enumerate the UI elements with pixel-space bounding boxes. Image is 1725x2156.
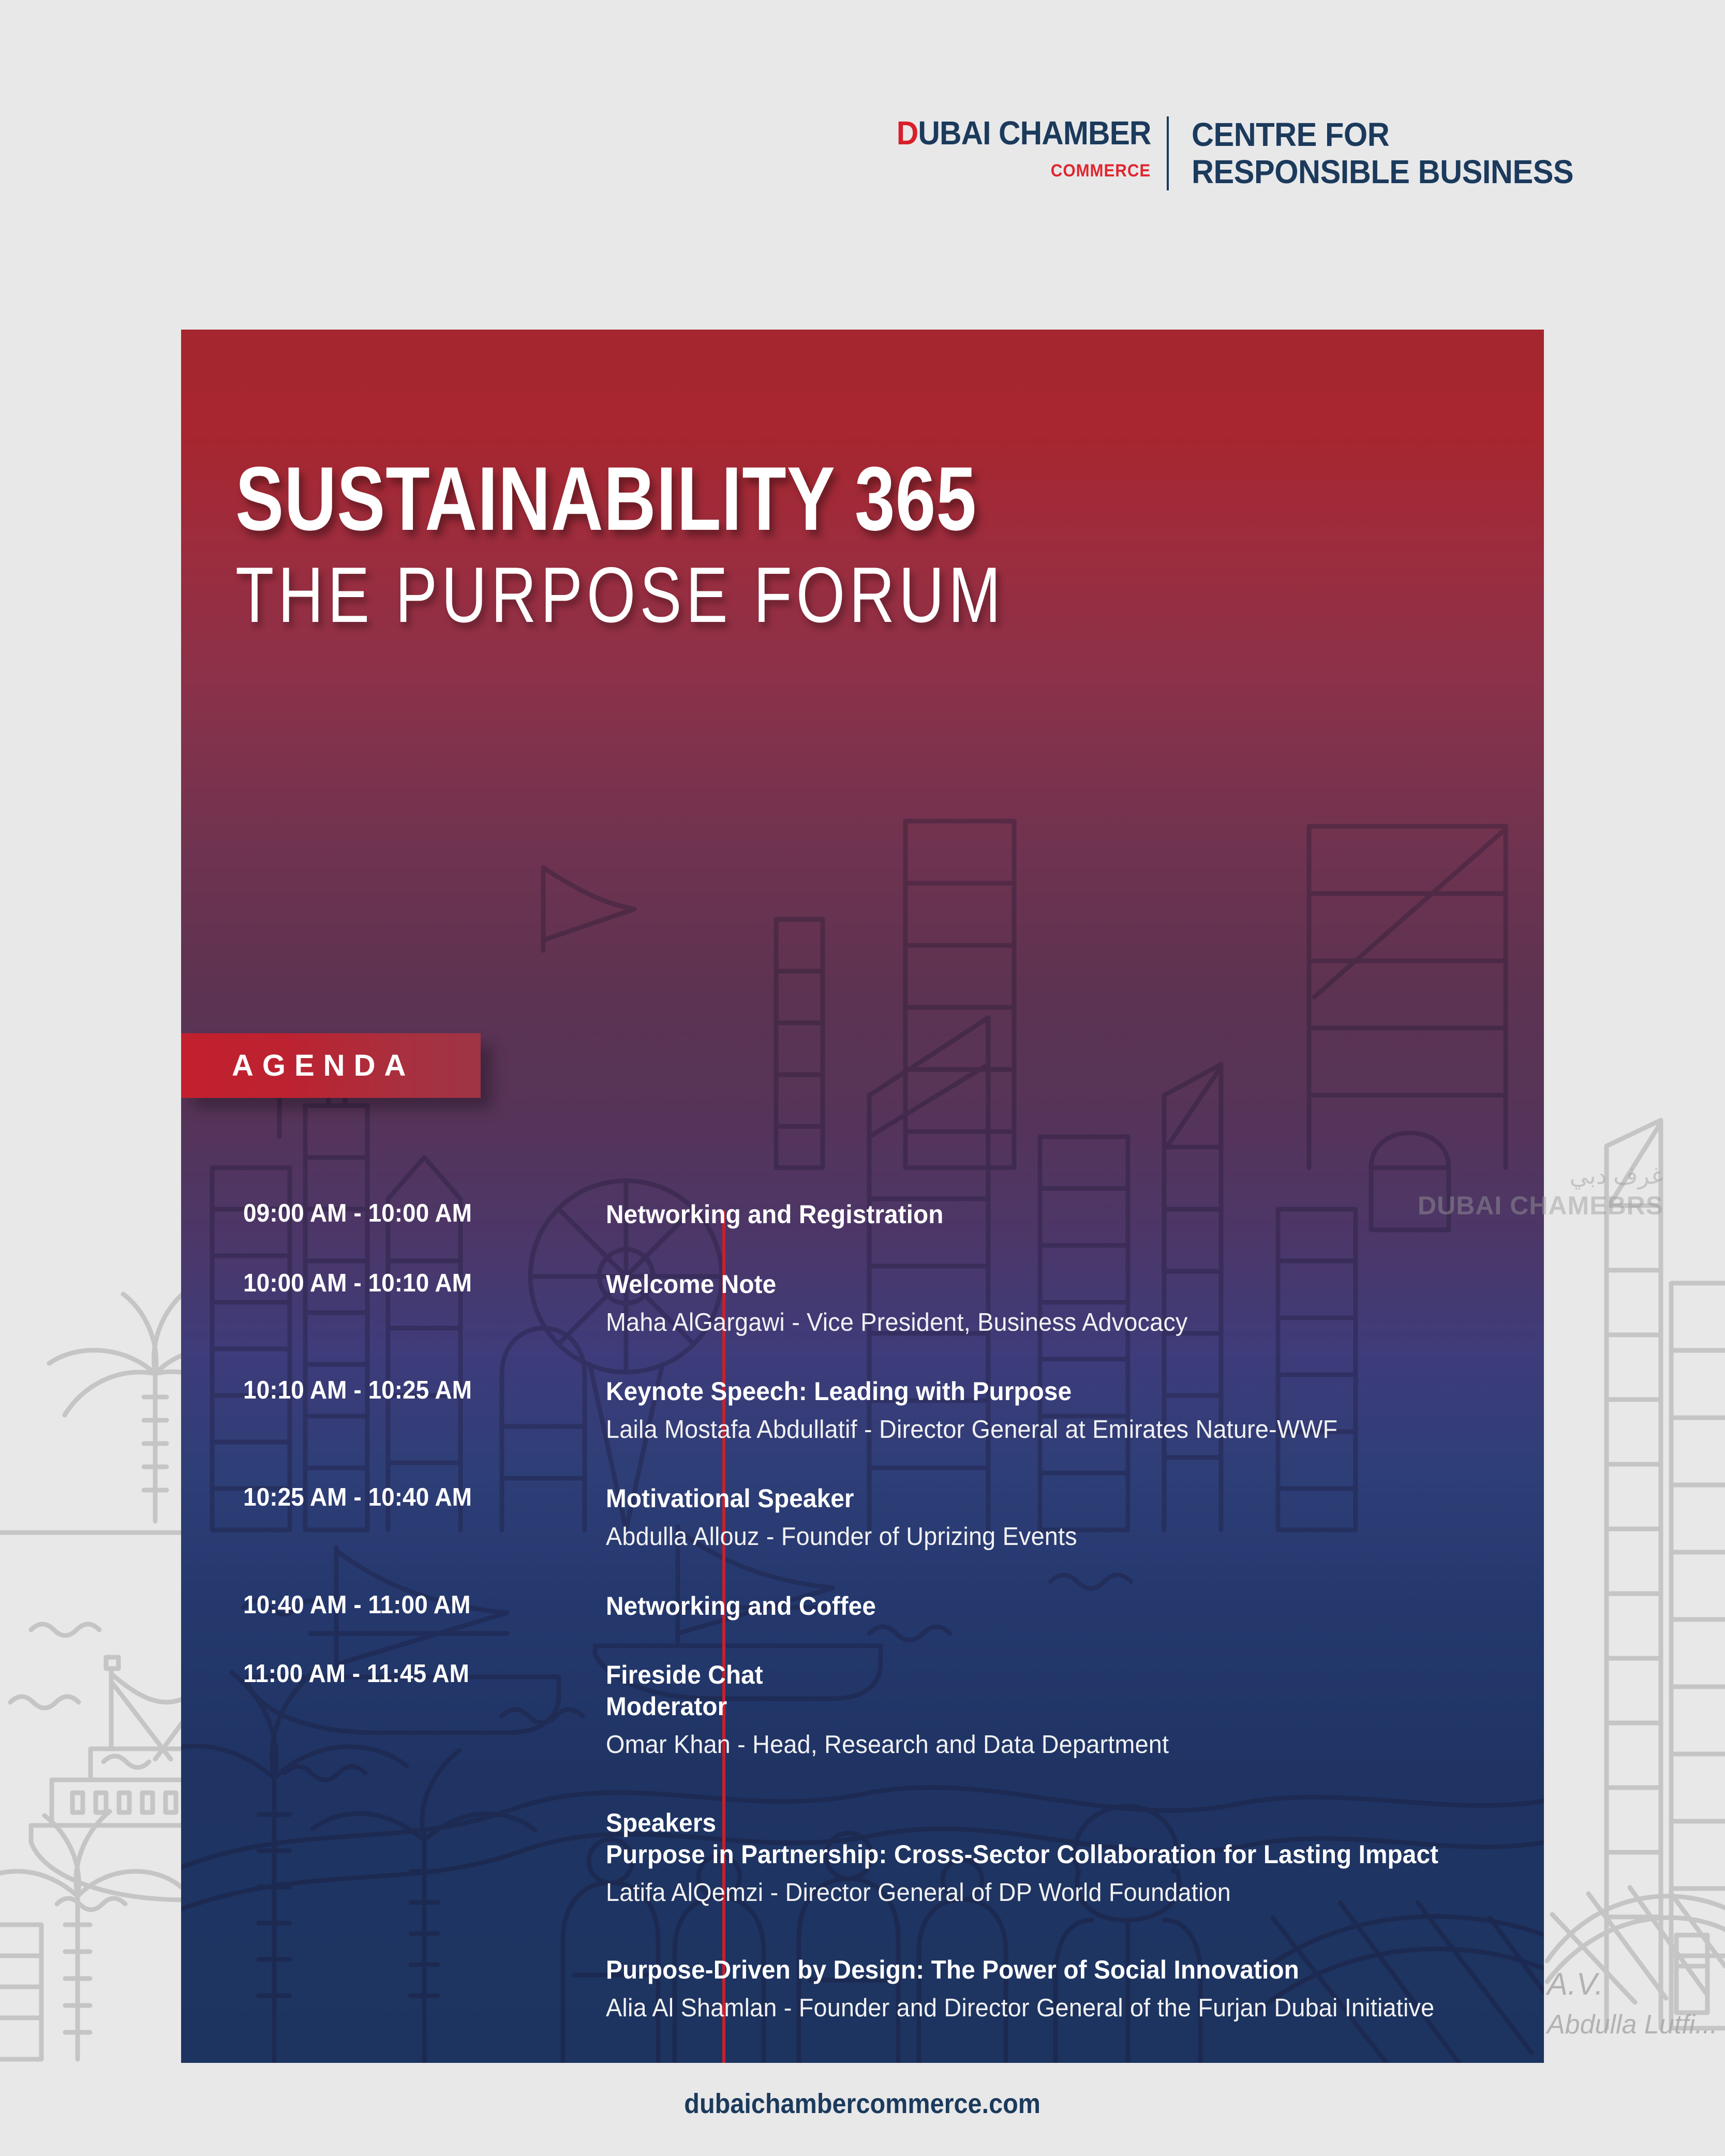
handwritten-signature: A.V. Abdulla Lutfi... xyxy=(1547,1966,1718,2040)
agenda-title: Networking and Coffee xyxy=(606,1590,1501,1622)
agenda-body: Networking and Coffee xyxy=(554,1590,1544,1622)
brand-subline: COMMERCE xyxy=(1051,161,1151,181)
brand-wordmark-text: UBAI CHAMBER xyxy=(918,116,1151,150)
agenda-badge: AGENDA xyxy=(181,1033,481,1098)
agenda-body: Motivational Speaker Abdulla Allouz - Fo… xyxy=(554,1483,1544,1553)
agenda-title: Motivational Speaker xyxy=(606,1483,1501,1514)
agenda-card: SUSTAINABILITY 365 THE PURPOSE FORUM AGE… xyxy=(181,330,1544,2063)
agenda-body: Purpose-Driven by Design: The Power of S… xyxy=(554,1954,1544,2024)
agenda-speaker: Latifa AlQemzi - Director General of DP … xyxy=(606,1878,1501,1909)
agenda-title: Welcome Note xyxy=(606,1269,1501,1300)
agenda-title: Purpose in Partnership: Cross-Sector Col… xyxy=(606,1839,1501,1870)
table-row: 09:00 AM - 10:00 AM Networking and Regis… xyxy=(181,1199,1544,1230)
table-row: 10:40 AM - 11:00 AM Networking and Coffe… xyxy=(181,1590,1544,1622)
agenda-time: 10:25 AM - 10:40 AM xyxy=(243,1483,536,1512)
agenda-body: Speakers Purpose in Partnership: Cross-S… xyxy=(554,1807,1544,1909)
table-row: 10:10 AM - 10:25 AM Keynote Speech: Lead… xyxy=(181,1376,1544,1446)
agenda-list: 09:00 AM - 10:00 AM Networking and Regis… xyxy=(181,1199,1544,2063)
agenda-speaker: Alia Al Shamlan - Founder and Director G… xyxy=(606,1993,1501,2024)
centre-line-1: CENTRE FOR xyxy=(1192,116,1573,154)
table-row: 10:25 AM - 10:40 AM Motivational Speaker… xyxy=(181,1483,1544,1553)
hero-titles: SUSTAINABILITY 365 THE PURPOSE FORUM xyxy=(235,454,1197,634)
agenda-title: Keynote Speech: Leading with Purpose xyxy=(606,1376,1501,1407)
agenda-time: 10:40 AM - 11:00 AM xyxy=(243,1590,536,1619)
agenda-time: 10:00 AM - 10:10 AM xyxy=(243,1269,536,1298)
agenda-badge-label: AGENDA xyxy=(232,1048,414,1083)
agenda-body: Keynote Speech: Leading with Purpose Lai… xyxy=(554,1376,1544,1446)
table-row: 10:00 AM - 10:10 AM Welcome Note Maha Al… xyxy=(181,1269,1544,1339)
website-url[interactable]: dubaichambercommerce.com xyxy=(685,2088,1041,2120)
table-row: Purpose-Driven by Design: The Power of S… xyxy=(181,1954,1544,2024)
agenda-time: 11:00 AM - 11:45 AM xyxy=(243,1659,536,1688)
agenda-body: Networking and Registration xyxy=(554,1199,1544,1230)
signature-name: Abdulla Lutfi... xyxy=(1547,2009,1718,2040)
header-logo: DUBAI CHAMBER COMMERCE CENTRE FOR RESPON… xyxy=(874,116,1602,190)
agenda-speaker: Laila Mostafa Abdullatif - Director Gene… xyxy=(606,1415,1501,1446)
agenda-speaker: Omar Khan - Head, Research and Data Depa… xyxy=(606,1730,1501,1761)
agenda-title: Purpose-Driven by Design: The Power of S… xyxy=(606,1954,1501,1986)
centre-line-2: RESPONSIBLE BUSINESS xyxy=(1192,154,1573,191)
agenda-speaker: Abdulla Allouz - Founder of Uprizing Eve… xyxy=(606,1522,1501,1553)
agenda-time: 10:10 AM - 10:25 AM xyxy=(243,1376,536,1405)
agenda-body: Fireside Chat Moderator Omar Khan - Head… xyxy=(554,1659,1544,1761)
table-row: 11:00 AM - 11:45 AM Fireside Chat Modera… xyxy=(181,1659,1544,1761)
agenda-speaker: Maha AlGargawi - Vice President, Busines… xyxy=(606,1307,1501,1339)
signature-initials: A.V. xyxy=(1547,1966,1718,2002)
brand-d-mark: D xyxy=(897,116,918,150)
brand-wordmark: DUBAI CHAMBER xyxy=(897,116,1151,150)
agenda-role-label: Moderator xyxy=(606,1691,1501,1722)
footer: dubaichambercommerce.com xyxy=(0,2088,1725,2120)
page-subtitle: THE PURPOSE FORUM xyxy=(235,556,1005,634)
agenda-role-label: Speakers xyxy=(606,1807,1501,1839)
agenda-title: Fireside Chat xyxy=(606,1659,1501,1691)
dubai-chamber-lockup: DUBAI CHAMBER COMMERCE xyxy=(874,116,1167,181)
table-row: Speakers Purpose in Partnership: Cross-S… xyxy=(181,1807,1544,1909)
page-title: SUSTAINABILITY 365 xyxy=(235,454,1005,544)
agenda-time: 09:00 AM - 10:00 AM xyxy=(243,1199,536,1228)
centre-lockup: CENTRE FOR RESPONSIBLE BUSINESS xyxy=(1192,116,1573,190)
agenda-title: Networking and Registration xyxy=(606,1199,1501,1230)
logo-divider xyxy=(1167,116,1169,190)
agenda-body: Welcome Note Maha AlGargawi - Vice Presi… xyxy=(554,1269,1544,1339)
